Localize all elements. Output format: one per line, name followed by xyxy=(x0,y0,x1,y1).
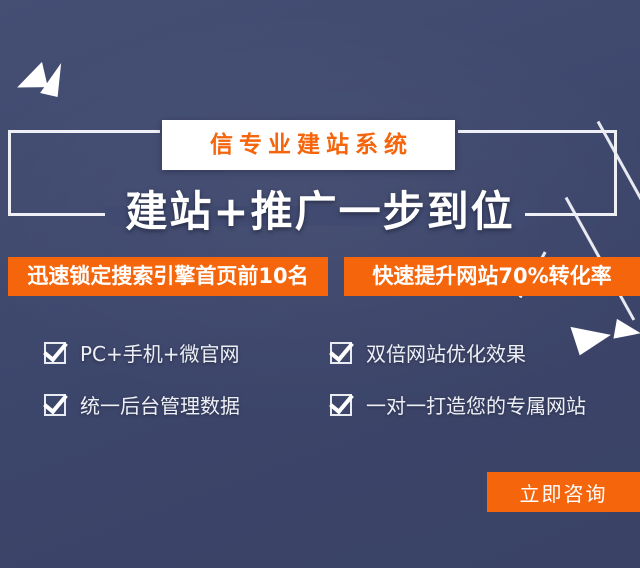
feature-item: 一对一打造您的专属网站 xyxy=(330,390,586,419)
feature-item-label: 统一后台管理数据 xyxy=(80,390,240,419)
feature-item: 统一后台管理数据 xyxy=(44,390,240,419)
tagline-label-text: 信专业建站系统 xyxy=(162,120,455,170)
checkbox-checked-icon xyxy=(330,394,352,416)
feature-item-label: 一对一打造您的专属网站 xyxy=(366,390,586,419)
feature-item: 双倍网站优化效果 xyxy=(330,338,526,367)
feature-list: PC+手机+微官网 双倍网站优化效果 统一后台管理数据 一对一打造您的专属网站 xyxy=(0,330,640,430)
consult-now-button[interactable]: 立即咨询 xyxy=(487,472,640,512)
highlight-strip-left: 迅速锁定搜索引擎首页前10名 xyxy=(8,257,328,296)
feature-item: PC+手机+微官网 xyxy=(44,338,240,367)
headline: 建站+推广一步到位 xyxy=(0,178,640,239)
checkbox-checked-icon xyxy=(330,342,352,364)
highlight-strip-right: 快速提升网站70%转化率 xyxy=(344,257,640,296)
checkbox-checked-icon xyxy=(44,394,66,416)
tagline-label-box: 信专业建站系统 xyxy=(162,120,455,170)
checkbox-checked-icon xyxy=(44,342,66,364)
feature-item-label: PC+手机+微官网 xyxy=(80,338,240,367)
promo-banner: 信专业建站系统 建站+推广一步到位 迅速锁定搜索引擎首页前10名 快速提升网站7… xyxy=(0,0,640,568)
highlight-strip-right-text: 快速提升网站70%转化率 xyxy=(372,257,611,296)
feature-item-label: 双倍网站优化效果 xyxy=(366,338,526,367)
highlight-strip-left-text: 迅速锁定搜索引擎首页前10名 xyxy=(27,257,308,296)
paper-plane-icon xyxy=(40,61,70,97)
paper-plane-icon xyxy=(14,62,48,100)
